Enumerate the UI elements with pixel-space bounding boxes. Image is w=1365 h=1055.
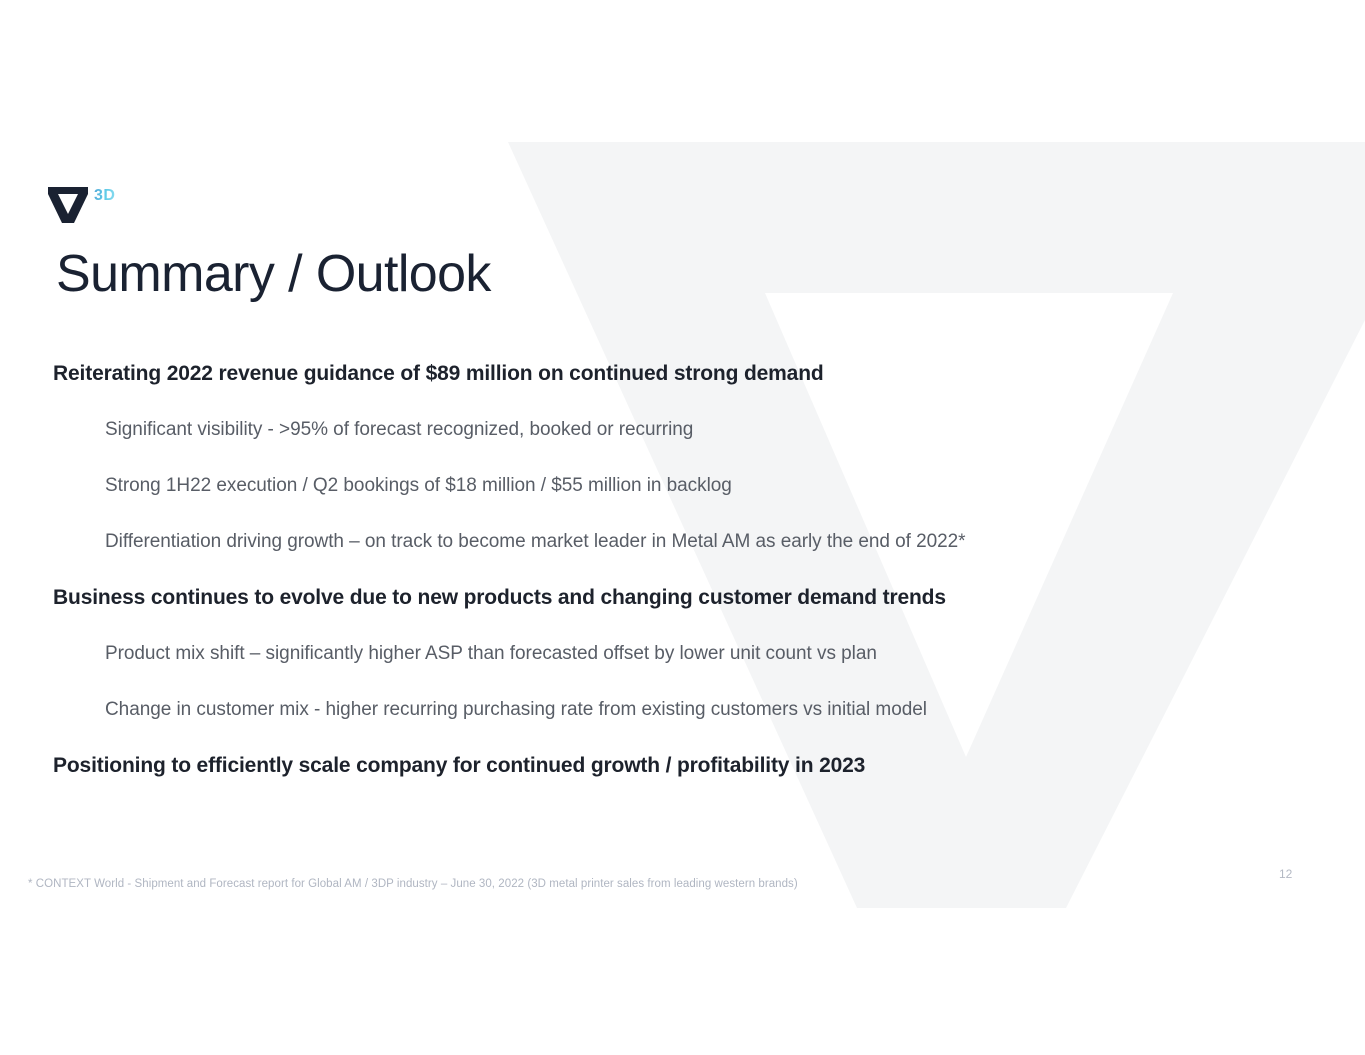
page-title: Summary / Outlook [56,245,491,303]
bullet-level-1: Business continues to evolve due to new … [53,584,1365,640]
footnote: * CONTEXT World - Shipment and Forecast … [28,878,798,890]
bullet-level-2: Strong 1H22 execution / Q2 bookings of $… [105,472,1365,528]
velo3d-logo: 3D [47,185,115,225]
bullet-level-2: Differentiation driving growth – on trac… [105,528,1365,584]
bullet-level-2: Product mix shift – significantly higher… [105,640,1365,696]
bullet-level-1: Positioning to efficiently scale company… [53,752,1365,808]
bullet-level-2: Significant visibility - >95% of forecas… [105,416,1365,472]
page-number: 12 [1279,867,1292,881]
bullet-level-1: Reiterating 2022 revenue guidance of $89… [53,360,1365,416]
bullet-level-2: Change in customer mix - higher recurrin… [105,696,1365,752]
velo3d-v-mark-icon [47,185,89,225]
logo-3d-text: 3D [94,188,115,204]
presentation-slide: 3D Summary / Outlook Reiterating 2022 re… [0,0,1365,1055]
bullet-list: Reiterating 2022 revenue guidance of $89… [0,360,1365,808]
